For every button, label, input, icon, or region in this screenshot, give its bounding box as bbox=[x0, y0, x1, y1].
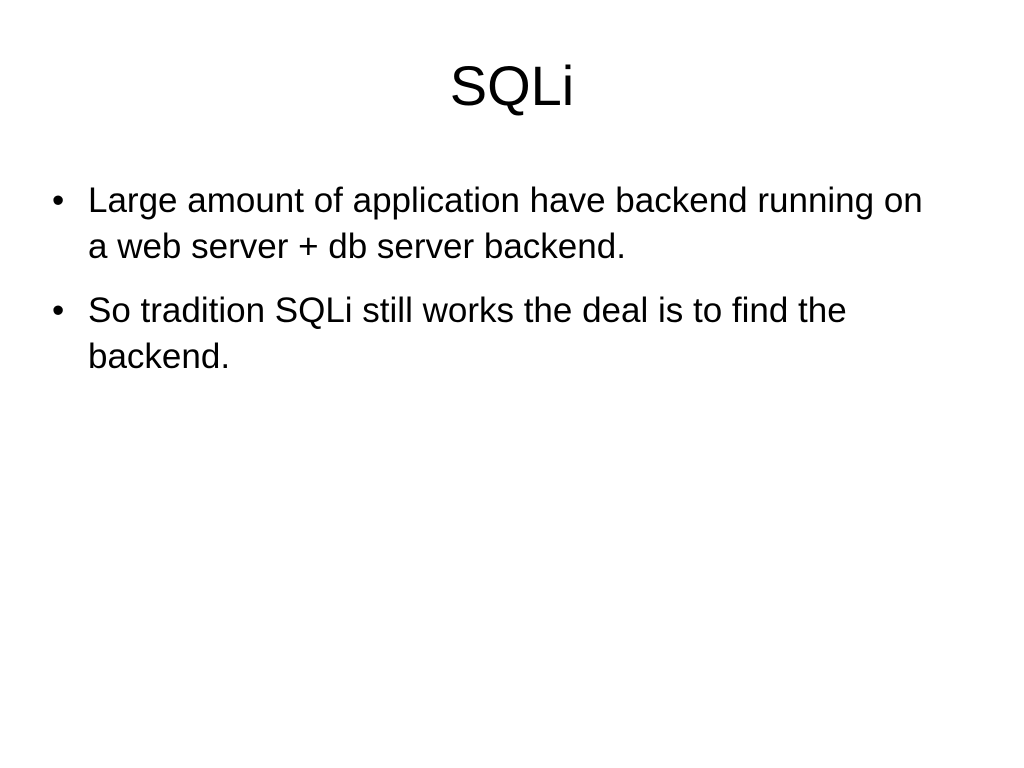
list-item: • Large amount of application have backe… bbox=[44, 178, 946, 270]
list-item: • So tradition SQLi still works the deal… bbox=[44, 288, 946, 380]
slide-content-body: • Large amount of application have backe… bbox=[44, 178, 946, 380]
bullet-item-text: Large amount of application have backend… bbox=[88, 178, 946, 270]
bullet-list: • Large amount of application have backe… bbox=[44, 178, 946, 380]
bullet-item-text: So tradition SQLi still works the deal i… bbox=[88, 288, 946, 380]
page-title: SQLi bbox=[60, 52, 964, 120]
bullet-point-icon: • bbox=[52, 178, 76, 224]
presentation-slide: SQLi • Large amount of application have … bbox=[0, 0, 1024, 768]
bullet-point-icon: • bbox=[52, 288, 76, 334]
